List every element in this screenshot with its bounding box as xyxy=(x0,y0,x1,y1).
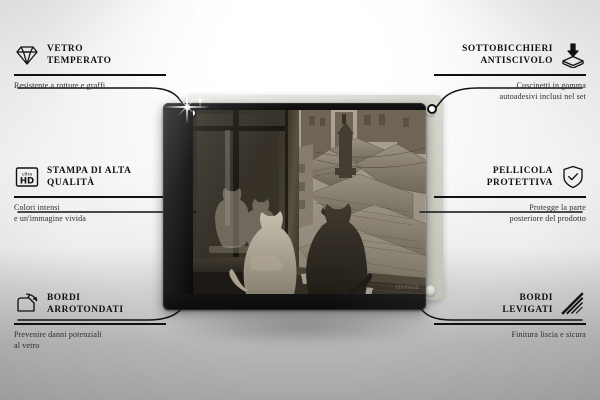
feature-description-line: Cuscinetti in gomma xyxy=(434,80,586,91)
feature-title-line: LEVIGATI xyxy=(502,304,553,316)
feature-divider xyxy=(434,74,586,76)
feature-bordi-arrotondati: BORDI ARROTONDATI Prevenire danni potenz… xyxy=(14,291,166,351)
feature-description-line: e un'immagine vivida xyxy=(14,213,166,224)
feature-title-line: SOTTOBICCHIERI xyxy=(462,43,553,55)
feature-pellicola-protettiva: PELLICOLA PROTETTIVA Protegge la parte p… xyxy=(434,164,586,224)
feature-divider xyxy=(14,323,166,325)
feature-title-line: ANTISCIVOLO xyxy=(462,55,553,67)
feature-bordi-levigati: BORDI LEVIGATI Finitura liscia e sicura xyxy=(434,291,586,340)
feature-vetro-temperato: VETRO TEMPERATO Resistente a rotture e g… xyxy=(14,42,166,91)
diagonal-lines-icon xyxy=(560,291,586,317)
mounting-spacer-top-right xyxy=(425,105,436,116)
feature-divider xyxy=(14,196,166,198)
feature-divider xyxy=(434,196,586,198)
feature-title-line: ARROTONDATI xyxy=(47,304,124,316)
feature-description-line: al vetro xyxy=(14,340,166,351)
feature-description-line: Prevenire danni potenziali xyxy=(14,329,166,340)
shield-check-icon xyxy=(560,164,586,190)
glass-bottom-edge xyxy=(163,294,426,310)
feature-title-line: TEMPERATO xyxy=(47,55,112,67)
feature-description-line: Protegge la parte xyxy=(434,202,586,213)
feature-title-line: BORDI xyxy=(502,292,553,304)
printed-photograph: VINTAGE xyxy=(189,108,426,298)
diamond-icon xyxy=(14,42,40,68)
feature-description-line: Finitura liscia e sicura xyxy=(434,329,586,340)
feature-description-line: autoadesivi inclusi nel set xyxy=(434,91,586,102)
feature-title-line: QUALITÀ xyxy=(47,177,131,189)
feature-stampa-alta-qualita: ultra HD STAMPA DI ALTA QUALITÀ Colori i… xyxy=(14,164,166,224)
feature-divider xyxy=(434,323,586,325)
glass-top-edge xyxy=(163,103,426,110)
feature-title-line: STAMPA DI ALTA xyxy=(47,165,131,177)
feature-sottobicchieri-antiscivolo: SOTTOBICCHIERI ANTISCIVOLO Cuscinetti in… xyxy=(434,42,586,102)
product-feature-infographic: VINTAGE xyxy=(0,0,600,400)
pad-press-icon xyxy=(560,42,586,68)
feature-title-line: PROTETTIVA xyxy=(487,177,553,189)
glass-left-edge xyxy=(163,103,193,310)
feature-description-line: posteriore del prodotto xyxy=(434,213,586,224)
rounded-corner-icon xyxy=(14,291,40,317)
tempered-glass-panel: VINTAGE xyxy=(163,103,426,310)
ultra-hd-icon: ultra HD xyxy=(14,164,40,190)
feature-description-line: Colori intensi xyxy=(14,202,166,213)
feature-title-line: BORDI xyxy=(47,292,124,304)
ultra-hd-icon-main-text: HD xyxy=(20,177,34,187)
feature-description-line: Resistente a rotture e graffi xyxy=(14,80,166,91)
feature-divider xyxy=(14,74,166,76)
feature-title-line: VETRO xyxy=(47,43,112,55)
feature-title-line: PELLICOLA xyxy=(487,165,553,177)
